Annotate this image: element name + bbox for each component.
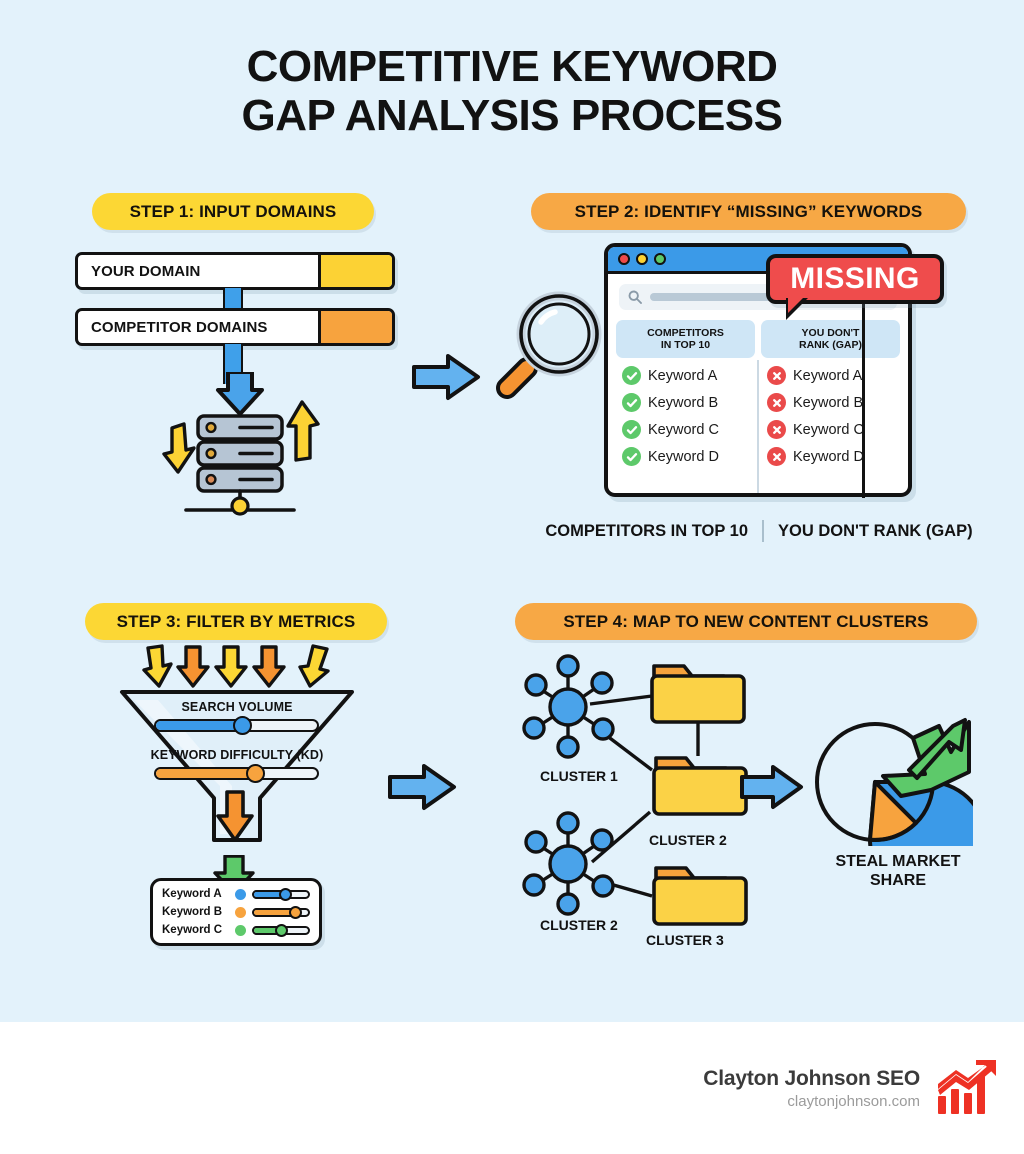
folder-2-label: CLUSTER 2: [649, 832, 727, 848]
arrow-right-icon: [412, 352, 482, 402]
search-volume-label: SEARCH VOLUME: [112, 700, 362, 714]
arrow-right-icon: [388, 762, 458, 812]
table-row: Keyword C: [761, 420, 900, 439]
your-domain-input[interactable]: YOUR DOMAIN: [75, 252, 395, 290]
page-title-line-2: GAP ANALYSIS PROCESS: [0, 91, 1024, 140]
table-row: Keyword A: [616, 366, 755, 385]
check-icon: [622, 393, 641, 412]
list-item: Keyword C: [162, 923, 310, 938]
arrow-up-right-icon: [883, 720, 969, 796]
step-3-badge: STEP 3: FILTER BY METRICS: [85, 603, 387, 640]
footer-text: Clayton Johnson SEO claytonjohnson.com: [703, 1067, 920, 1110]
close-icon: [767, 366, 786, 385]
metric-slider[interactable]: [252, 908, 310, 917]
keyword-label: Keyword A: [648, 368, 717, 384]
keyword-label: Keyword D: [648, 449, 719, 465]
market-share-label-line-1: STEAL MARKET: [835, 853, 960, 870]
list-item: Keyword A: [162, 887, 310, 902]
keyword-label: Keyword A: [793, 368, 862, 384]
keyword-difficulty-label: KEYWORD DIFFICULTY (KD): [112, 748, 362, 762]
gap-column-header: YOU DON'T RANK (GAP): [761, 320, 900, 358]
metric-slider[interactable]: [252, 890, 310, 899]
keyword-difficulty-slider[interactable]: [154, 767, 319, 780]
arrow-down-icon: [215, 790, 255, 842]
missing-callout: MISSING: [766, 254, 944, 304]
step-4-badge: STEP 4: MAP TO NEW CONTENT CLUSTERS: [515, 603, 977, 640]
table-row: Keyword A: [761, 366, 900, 385]
window-minimize-dot[interactable]: [636, 253, 648, 265]
search-volume-fill: [156, 721, 245, 730]
competitor-domains-label: COMPETITOR DOMAINS: [78, 311, 318, 343]
check-icon: [622, 366, 641, 385]
column-divider: [757, 360, 759, 497]
filtered-keywords-card: Keyword A Keyword B Keyword C: [150, 878, 322, 946]
metric-knob[interactable]: [275, 924, 288, 937]
caption-right: YOU DON'T RANK (GAP): [764, 522, 987, 541]
funnel-input-arrows: [142, 644, 332, 690]
cluster-node-2-label: CLUSTER 2: [540, 917, 618, 933]
missing-callout-label: MISSING: [790, 262, 919, 296]
metric-dot: [235, 925, 246, 936]
callout-pointer-line: [862, 300, 865, 498]
funnel-filters: SEARCH VOLUME KEYWORD DIFFICULTY (KD): [112, 686, 362, 806]
competitor-domains-input[interactable]: COMPETITOR DOMAINS: [75, 308, 395, 346]
competitor-domains-swatch: [318, 311, 392, 343]
market-share-label-line-2: SHARE: [870, 872, 926, 889]
keyword-difficulty-fill: [156, 769, 257, 778]
search-volume-knob[interactable]: [233, 716, 252, 735]
metric-slider[interactable]: [252, 926, 310, 935]
infographic-canvas: COMPETITIVE KEYWORD GAP ANALYSIS PROCESS…: [0, 0, 1024, 1154]
keyword-label: Keyword C: [162, 924, 229, 936]
close-icon: [767, 447, 786, 466]
market-share-pie-chart: [813, 716, 973, 846]
close-icon: [767, 393, 786, 412]
window-close-dot[interactable]: [618, 253, 630, 265]
keyword-label: Keyword C: [648, 422, 719, 438]
magnifier-icon: [489, 276, 619, 406]
server-stack-icon: [150, 372, 330, 517]
competitors-header-line-2: IN TOP 10: [661, 339, 710, 351]
step-2-caption: COMPETITORS IN TOP 10 YOU DON'T RANK (GA…: [524, 518, 994, 544]
list-item: Keyword B: [162, 905, 310, 920]
check-icon: [622, 447, 641, 466]
gap-header-line-1: YOU DON'T: [802, 327, 860, 339]
brand-name: Clayton Johnson SEO: [703, 1067, 920, 1091]
metric-knob[interactable]: [289, 906, 302, 919]
table-row: Keyword B: [761, 393, 900, 412]
page-title: COMPETITIVE KEYWORD GAP ANALYSIS PROCESS: [0, 42, 1024, 141]
table-row: Keyword B: [616, 393, 755, 412]
table-row: Keyword D: [761, 447, 900, 466]
search-icon: [628, 290, 642, 304]
metric-dot: [235, 889, 246, 900]
keyword-label: Keyword B: [793, 395, 863, 411]
competitors-column: COMPETITORS IN TOP 10 Keyword A Keyword …: [616, 320, 755, 466]
step-2-badge: STEP 2: IDENTIFY “MISSING” KEYWORDS: [531, 193, 966, 230]
table-row: Keyword C: [616, 420, 755, 439]
metric-knob[interactable]: [279, 888, 292, 901]
cluster-node-1-label: CLUSTER 1: [540, 768, 618, 784]
keyword-label: Keyword B: [648, 395, 718, 411]
brand-url: claytonjohnson.com: [703, 1093, 920, 1110]
close-icon: [767, 420, 786, 439]
competitors-column-header: COMPETITORS IN TOP 10: [616, 320, 755, 358]
check-icon: [622, 420, 641, 439]
your-domain-swatch: [318, 255, 392, 287]
content-cluster-map: [512, 652, 762, 952]
search-volume-slider[interactable]: [154, 719, 319, 732]
window-maximize-dot[interactable]: [654, 253, 666, 265]
callout-tail: [788, 298, 803, 313]
growth-bar-chart-icon: [936, 1060, 998, 1116]
gap-column: YOU DON'T RANK (GAP) Keyword A Keyword B: [761, 320, 900, 466]
keyword-label: Keyword D: [793, 449, 864, 465]
table-row: Keyword D: [616, 447, 755, 466]
your-domain-label: YOUR DOMAIN: [78, 255, 318, 287]
gap-header-line-2: RANK (GAP): [799, 339, 862, 351]
market-share-label: STEAL MARKET SHARE: [818, 852, 978, 890]
keyword-label: Keyword A: [162, 888, 229, 900]
competitors-header-line-1: COMPETITORS: [647, 327, 724, 339]
keyword-label: Keyword B: [162, 906, 229, 918]
caption-left: COMPETITORS IN TOP 10: [531, 522, 762, 541]
folder-3-label: CLUSTER 3: [646, 932, 724, 948]
keyword-difficulty-knob[interactable]: [246, 764, 265, 783]
metric-dot: [235, 907, 246, 918]
keyword-label: Keyword C: [793, 422, 864, 438]
page-title-line-1: COMPETITIVE KEYWORD: [247, 42, 778, 91]
footer: Clayton Johnson SEO claytonjohnson.com: [0, 1022, 1024, 1154]
step-1-badge: STEP 1: INPUT DOMAINS: [92, 193, 374, 230]
arrow-right-icon: [740, 764, 804, 810]
metric-fill: [254, 910, 293, 915]
